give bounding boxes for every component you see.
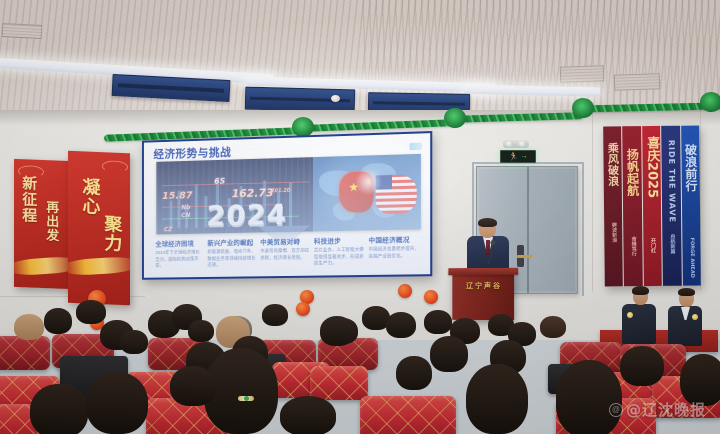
wall-seam: [592, 112, 593, 292]
slide-corner-logo-icon: [410, 143, 422, 151]
audience-head: [320, 316, 354, 346]
projector-screen: 经济形势与挑战: [142, 131, 432, 280]
running-person-icon: 🏃: [509, 153, 519, 161]
ceiling: [0, 0, 720, 118]
vertical-banner: 扬帆起航 奋楫笃行: [623, 126, 643, 286]
seat[interactable]: [310, 366, 368, 400]
podium-top: [448, 268, 518, 275]
audience-head-foreground: [466, 364, 528, 434]
audience-head: [540, 316, 566, 338]
audience-head: [430, 336, 468, 372]
wall-banner-left-inner: 凝心 聚力: [68, 151, 130, 306]
wall-banner-right-group: 乘风破浪 劈波斩浪 扬帆起航 奋楫笃行 喜庆2025 开门红 RIDE THE …: [603, 126, 701, 287]
audience-head-foreground: [280, 396, 336, 434]
audience-head-foreground: [170, 366, 216, 406]
column-heading: 科技进步: [314, 235, 365, 246]
ticker-value: Nb: [181, 204, 190, 211]
audience-head: [396, 356, 432, 390]
garland-bow: [572, 98, 594, 118]
banner-text: 乘风破浪: [607, 142, 619, 186]
audience-head-foreground: [30, 384, 88, 434]
audience-head: [188, 320, 214, 342]
slide-column: 全球经济困境 2024年下全球经济增长乏力，国际形势动荡不安。: [155, 237, 203, 277]
banner-subtext: 开门红: [650, 238, 655, 253]
ticker-value: 15.87: [162, 190, 192, 202]
watermark: @ @辽沈晚报: [609, 399, 706, 420]
audience-head: [76, 300, 106, 324]
slide-column: 中国经济概况 中国经济总量稳步提升，高端产业链优化。: [369, 233, 420, 276]
ceiling-vent-icon: [2, 23, 43, 39]
speaker-hair: [478, 218, 497, 227]
slide-surface: 经济形势与挑战: [144, 133, 430, 278]
column-body: 新能源装备、电动汽车、数据业务等领域持续增长迅速。: [207, 248, 256, 268]
hair-pin-accessory: [238, 396, 254, 401]
column-heading: 中国经济概况: [369, 233, 420, 244]
ticker-value: 201.20: [271, 188, 290, 194]
watermark-handle: @辽沈晚报: [626, 399, 706, 420]
banner-text-line1: 凝心: [80, 177, 98, 216]
vertical-banner: 喜庆2025 开门红: [642, 126, 662, 286]
banner-subtext: 启航新篇: [669, 234, 674, 254]
audience-head: [44, 308, 72, 334]
podium-plate-char: 宁: [475, 283, 482, 290]
banner-text-line2: 聚力: [102, 214, 120, 253]
slide-column: 中美贸易对峙 中美贸易摩擦、双方加征关税，经济增长受阻。: [260, 236, 310, 278]
column-body: 2024年下全球经济增长乏力，国际形势动荡不安。: [155, 249, 203, 269]
audience-head: [620, 346, 664, 386]
column-body: 芯片业务、人工智能大模型取得显著进步，形成新质生产力。: [314, 247, 365, 268]
podium-plate-char: 辽: [466, 283, 473, 290]
slide-bullet-columns: 全球经济困境 2024年下全球经济增长乏力，国际形势动荡不安。 新兴产业的崛起 …: [155, 233, 419, 277]
audience-head-bald: [14, 314, 44, 340]
ticker-value: 6S: [214, 177, 225, 186]
red-pompom-decoration: [398, 284, 412, 298]
banner-subtext: 奋楫笃行: [630, 236, 635, 256]
ticker-value: CN: [181, 212, 190, 219]
door-mullion: [527, 167, 529, 293]
podium-plate-char: 声: [484, 283, 491, 290]
audience-head: [120, 330, 148, 354]
podium-name-plate: 辽 宁 声 谷: [457, 281, 509, 292]
exit-arrow-icon: →: [520, 153, 527, 160]
banner-text: 破浪前行: [684, 144, 697, 192]
ceiling-light-falloff: [0, 0, 720, 118]
garland-bow: [444, 108, 466, 128]
column-heading: 全球经济困境: [155, 237, 203, 248]
vertical-banner: 破浪前行 FORGE AHEAD: [681, 126, 701, 286]
garland-bow: [292, 117, 314, 137]
audience-head-foreground: [556, 360, 622, 434]
banner-subtext: FORGE AHEAD: [689, 238, 695, 278]
emergency-light: [503, 140, 529, 148]
slide-column: 新兴产业的崛起 新能源装备、电动汽车、数据业务等领域持续增长迅速。: [207, 237, 256, 278]
podium-plate-char: 谷: [493, 283, 500, 290]
audience-head: [424, 310, 452, 334]
column-body: 中美贸易摩擦、双方加征关税，经济增长受阻。: [260, 248, 310, 262]
column-heading: 新兴产业的崛起: [207, 237, 256, 248]
door-handle[interactable]: [517, 255, 533, 258]
ceiling-vent-icon: [614, 73, 661, 91]
audience-head-foreground: [86, 372, 148, 434]
smoke-detector-icon: [331, 95, 340, 102]
column-heading: 中美贸易对峙: [260, 236, 310, 247]
conference-hall-photo: 新征程 再出发 凝心 聚力 经济形势与挑战: [0, 0, 720, 434]
banner-text: 扬帆起航: [626, 148, 639, 196]
exit-sign: 🏃 →: [500, 150, 536, 163]
vertical-banner: 乘风破浪 劈波斩浪: [603, 126, 623, 286]
slide-hero-image: 15.87 6S 162.73 201.20 Nb CN CZ 2024: [156, 154, 421, 235]
wall-banner-left-outer: 新征程 再出发: [14, 159, 72, 289]
impact-flash-icon: [355, 167, 381, 196]
seat[interactable]: [0, 336, 50, 370]
audience-head: [262, 304, 288, 326]
seat[interactable]: [360, 396, 456, 434]
watermark-logo-icon: @: [609, 403, 623, 417]
ceiling-vent-icon: [560, 65, 605, 83]
banner-text: RIDE THE WAVE: [667, 140, 676, 223]
vertical-banner: RIDE THE WAVE 启航新篇: [661, 126, 681, 286]
garland-bow: [700, 92, 720, 112]
column-body: 中国经济总量稳步提升，高端产业链优化。: [369, 246, 420, 260]
banner-text-line2: 再出发: [44, 200, 57, 243]
slide-column: 科技进步 芯片业务、人工智能大模型取得显著进步，形成新质生产力。: [314, 235, 365, 278]
usa-flag-fist-icon: [376, 174, 417, 214]
banner-subtext: 劈波斩浪: [611, 222, 616, 242]
ticker-value: CZ: [164, 226, 172, 233]
audience-head: [386, 312, 416, 338]
banner-text: 喜庆2025: [644, 136, 658, 198]
banner-text-line1: 新征程: [21, 175, 36, 224]
